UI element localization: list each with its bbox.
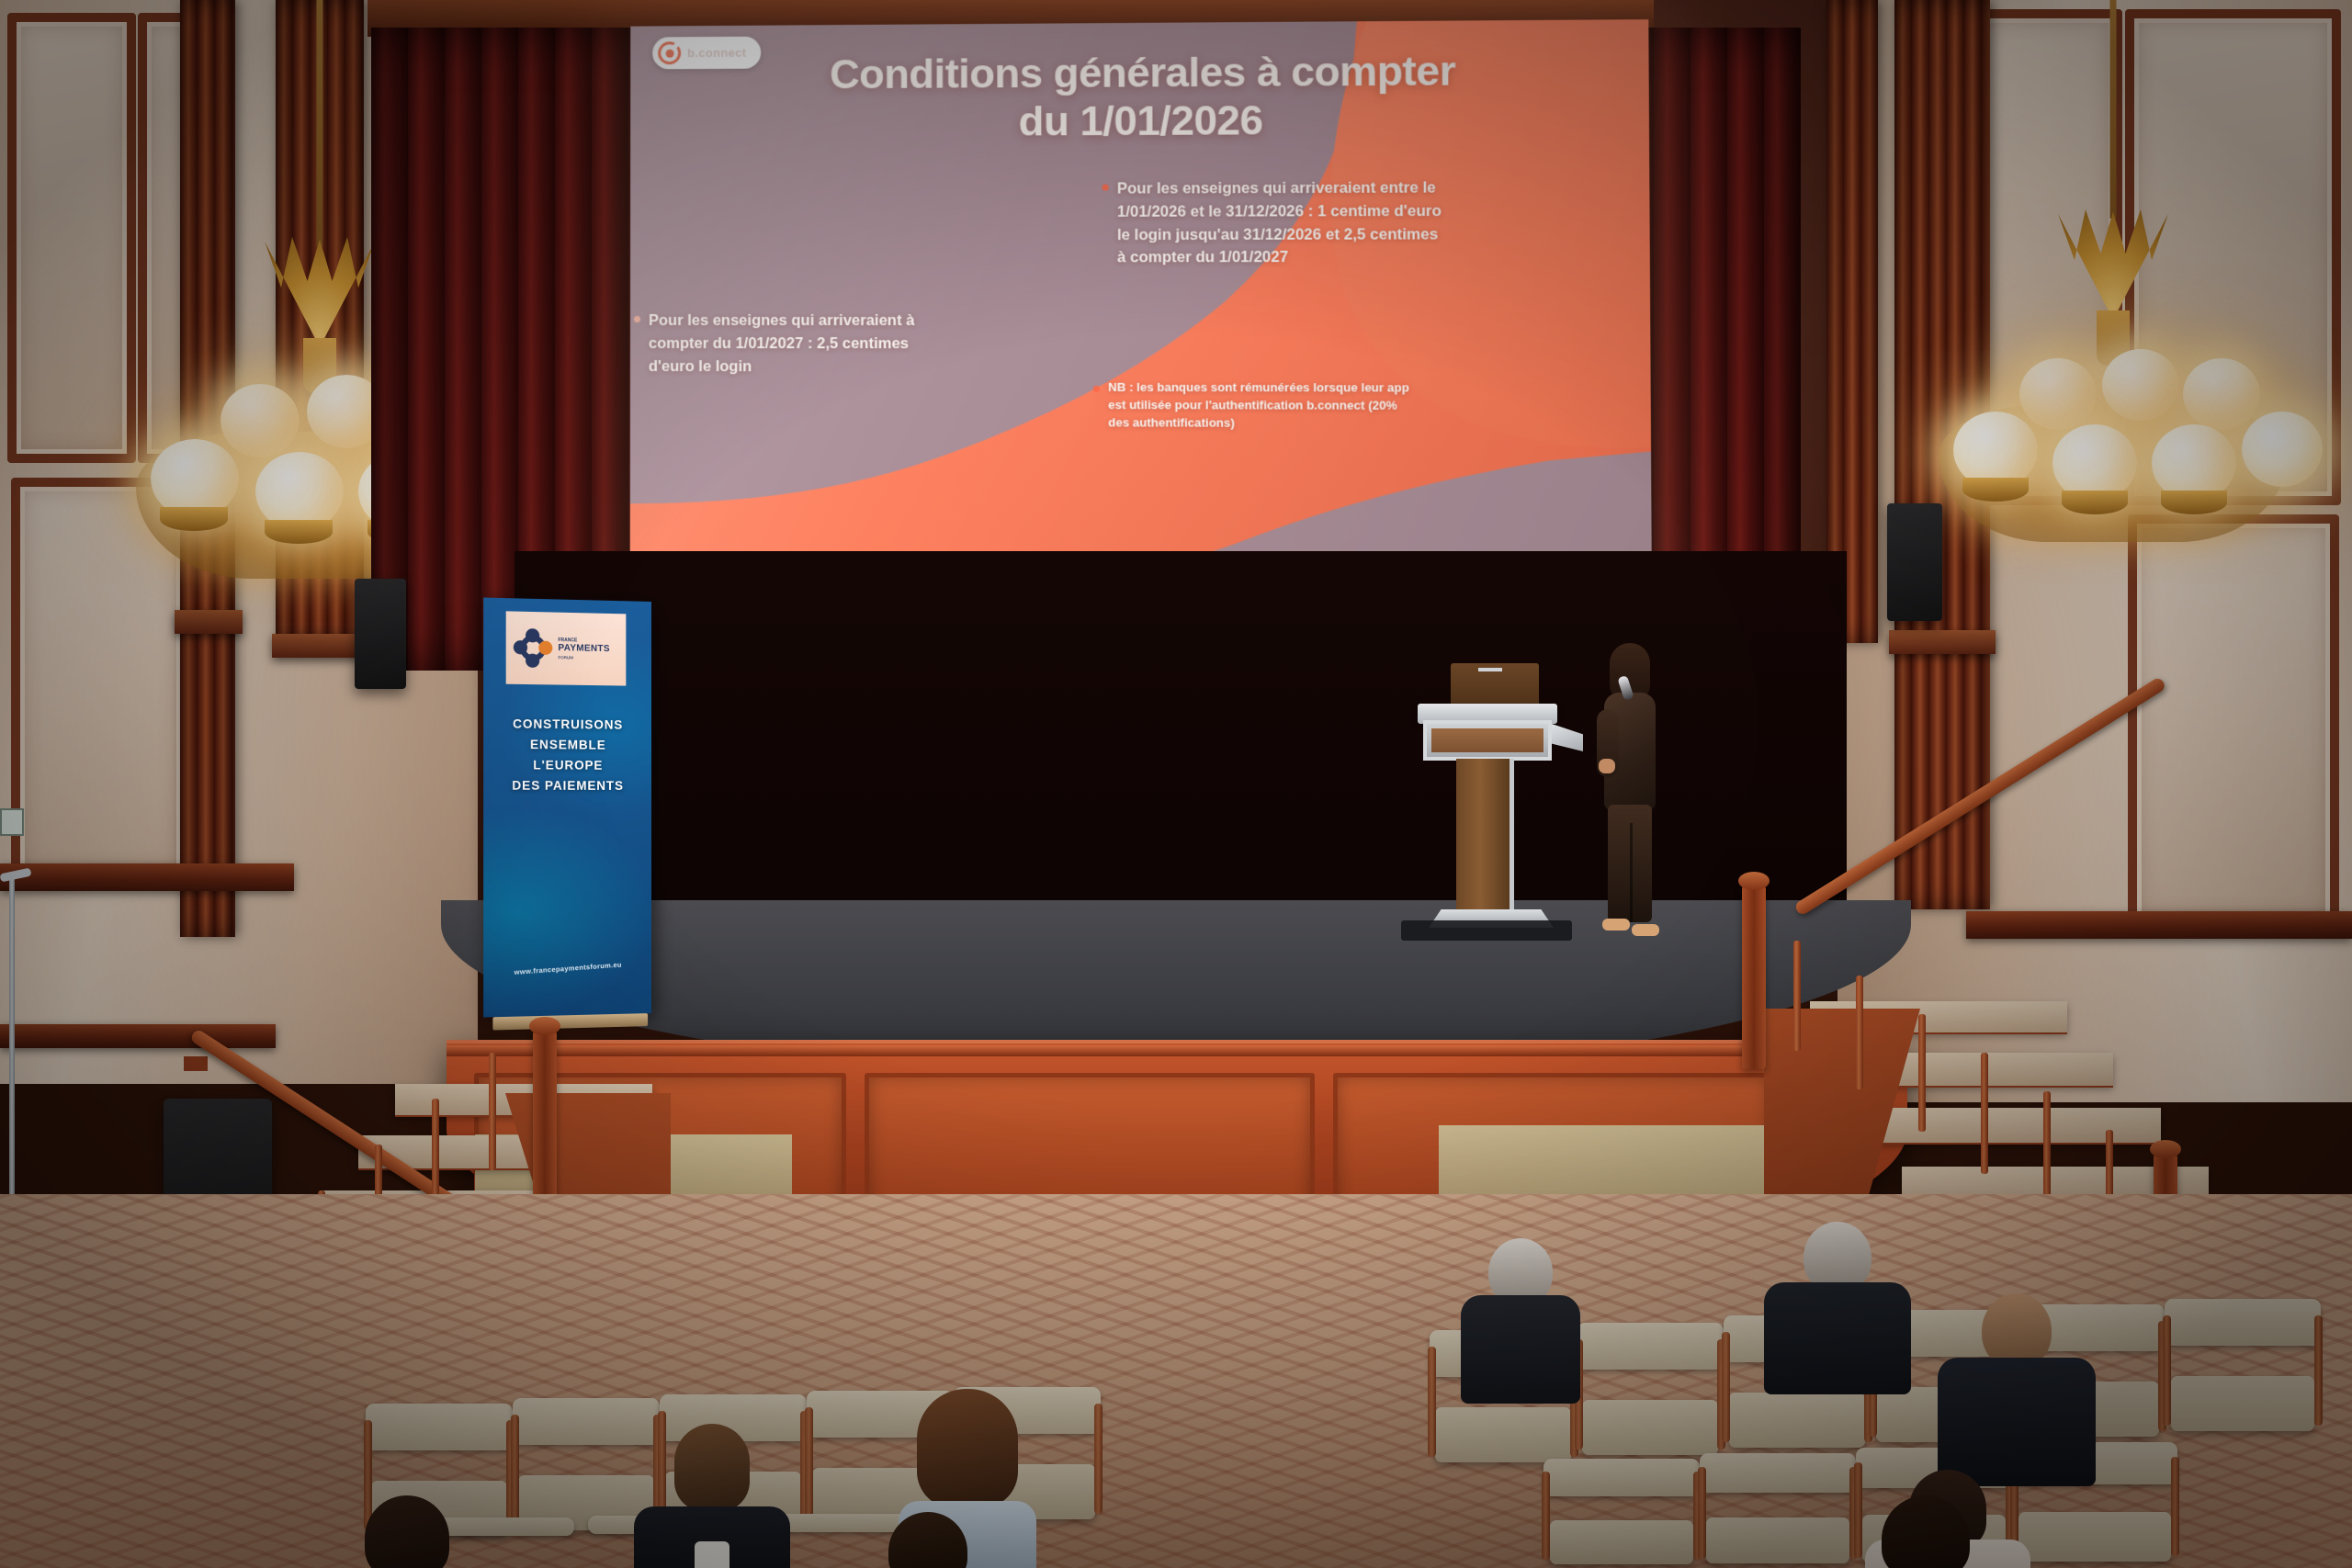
chandelier-cup	[160, 507, 228, 531]
chandelier-cup	[2062, 491, 2128, 514]
chandelier-globe	[2019, 358, 2097, 430]
person-head	[365, 1495, 449, 1568]
auditorium-photo: b.connect Conditions générales à compter…	[0, 0, 2352, 1568]
banner-headline-line2: ENSEMBLE	[483, 734, 651, 755]
person-head	[1882, 1495, 1970, 1568]
audience-chair	[1543, 1459, 1700, 1568]
slide-title: Conditions générales à compter du 1/01/2…	[685, 46, 1605, 147]
stair-baluster	[1981, 1053, 1988, 1174]
chandelier-globe	[2242, 412, 2323, 487]
audience-person	[864, 1512, 992, 1568]
chandelier-cup	[1962, 478, 2029, 502]
pilaster-capital	[272, 634, 367, 658]
banner-headline-line1: CONSTRUISONS	[483, 714, 651, 736]
slide-bullet-right-text: Pour les enseignes qui arriveraient entr…	[1117, 179, 1442, 265]
wall-pilaster	[1826, 0, 1878, 643]
slide-note-text: NB : les banques sont rémunérées lorsque…	[1108, 380, 1409, 430]
person-head	[674, 1424, 750, 1512]
dado-rail	[0, 1024, 276, 1048]
chandelier-cup	[265, 520, 333, 544]
audience-person	[1852, 1495, 1999, 1568]
audience-person	[1775, 1222, 1899, 1387]
pa-speaker	[355, 579, 406, 689]
wall-outlet	[184, 1056, 208, 1071]
pa-speaker	[1887, 503, 1942, 621]
presenter-shoe	[1602, 919, 1630, 931]
apron-inset	[1439, 1125, 1770, 1201]
stair-baluster	[1918, 1014, 1926, 1132]
chandelier-globe	[2102, 349, 2179, 421]
chandelier-globe	[220, 384, 300, 457]
banner-logo-main: PAYMENTS	[558, 643, 609, 656]
banner-logo-text: FRANCE PAYMENTS FORUM	[558, 637, 609, 661]
banner-headline-line3: L'EUROPE	[483, 755, 651, 776]
slide-bullet-right: Pour les enseignes qui arriveraient entr…	[1117, 176, 1446, 269]
person-body	[1938, 1358, 2096, 1486]
presenter-hand	[1599, 759, 1615, 773]
slide-note: NB : les banques sont rémunérées lorsque…	[1108, 379, 1420, 433]
pilaster-capital	[175, 610, 243, 634]
chandelier-chain	[2110, 0, 2117, 219]
banner-url: www.francepaymentsforum.eu	[483, 958, 651, 978]
chandelier-globe	[2183, 358, 2260, 430]
audience-person	[643, 1424, 781, 1568]
slide-bullet-left: Pour les enseignes qui arriveraient à co…	[649, 310, 931, 378]
dado-rail	[0, 863, 294, 891]
slide-title-line2: du 1/01/2026	[685, 95, 1605, 147]
audience-person	[1948, 1293, 2086, 1477]
presenter-with-microphone	[1595, 643, 1661, 946]
person-head	[917, 1389, 1018, 1508]
person-body	[1764, 1282, 1911, 1394]
bconnect-icon	[658, 41, 681, 64]
stair-newel-post	[1742, 886, 1766, 1069]
person-head	[888, 1512, 967, 1568]
bullet-dot-icon	[1102, 185, 1108, 191]
chandelier-chain	[317, 0, 323, 246]
person-shirt	[695, 1541, 729, 1568]
presenter-legs	[1608, 805, 1652, 922]
bullet-dot-icon	[1093, 386, 1100, 392]
lectern-column	[1456, 759, 1514, 913]
chandelier-crown	[2044, 209, 2182, 320]
audience-person	[338, 1495, 476, 1568]
banner-foot-base	[492, 1013, 648, 1030]
banner-headline-line4: DES PAIEMENTS	[483, 775, 651, 796]
stair-newel-post	[533, 1031, 557, 1203]
chandelier-crown	[251, 237, 389, 347]
audience-person	[1461, 1238, 1580, 1394]
audience-chair	[1700, 1453, 1856, 1568]
audience-chair	[2165, 1299, 2321, 1437]
dado-rail	[1966, 911, 2352, 939]
chandelier-cup	[2161, 491, 2227, 514]
wall-fixture	[0, 808, 24, 836]
lectern-monitor	[1451, 663, 1539, 707]
lectern-front-panel	[1423, 720, 1552, 761]
banner-logo: FRANCE PAYMENTS FORUM	[506, 611, 627, 685]
apron-top-rail	[447, 1045, 1907, 1056]
presenter-shoe	[1632, 924, 1659, 936]
gilt-chandelier-right	[1939, 0, 2334, 606]
person-body	[1461, 1295, 1580, 1404]
roll-up-banner: FRANCE PAYMENTS FORUM CONSTRUISONS ENSEM…	[483, 597, 651, 1017]
stage-floor-mat	[1401, 920, 1572, 941]
projection-screen: b.connect Conditions générales à compter…	[630, 19, 1652, 616]
stair-step	[1869, 1108, 2161, 1143]
pilaster-capital	[1889, 630, 1996, 654]
france-payments-forum-icon	[514, 628, 553, 668]
banner-headline: CONSTRUISONS ENSEMBLE L'EUROPE DES PAIEM…	[483, 714, 651, 795]
slide-bullet-left-text: Pour les enseignes qui arriveraient à co…	[649, 312, 915, 375]
stair-baluster	[1793, 941, 1801, 1051]
stair-baluster	[1856, 976, 1863, 1089]
stair-baluster	[489, 1053, 496, 1170]
bullet-dot-icon	[634, 316, 640, 322]
audience-chair	[1577, 1323, 1724, 1461]
banner-logo-sub: FORUM	[558, 655, 609, 661]
slide-title-line1: Conditions générales à compter	[685, 46, 1605, 99]
